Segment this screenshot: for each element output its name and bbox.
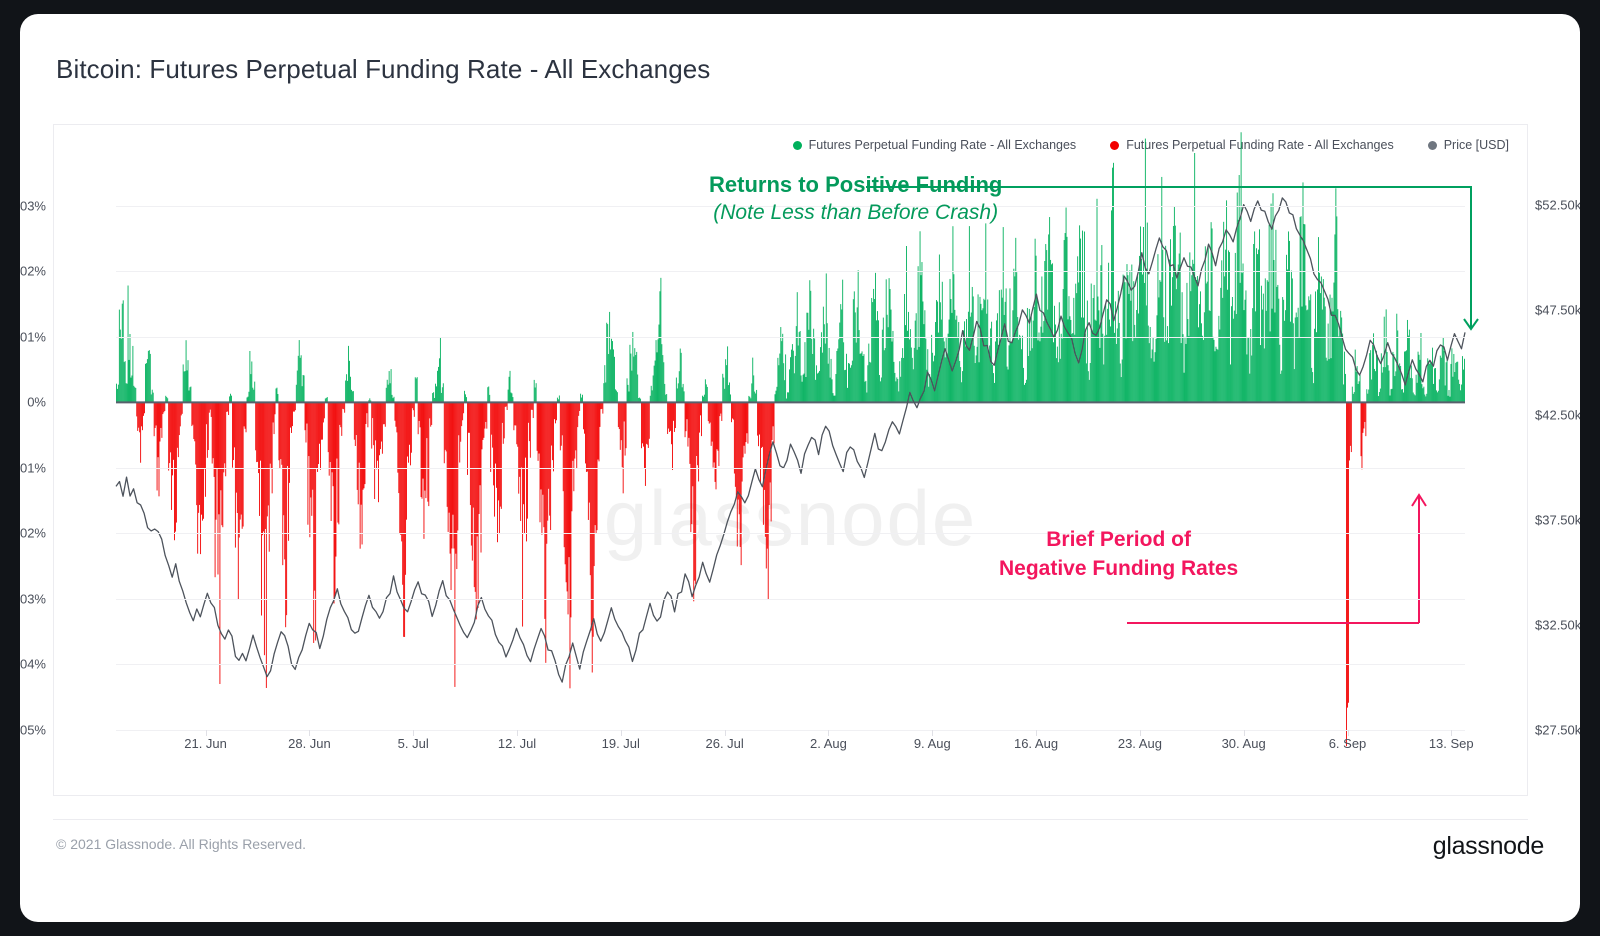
x-axis-tick-label: 26. Jul	[706, 736, 744, 751]
x-axis-tick-label: 16. Aug	[1014, 736, 1058, 751]
y2-axis-tick-label: $42.50k	[1535, 407, 1580, 422]
x-axis-tick-label: 23. Aug	[1118, 736, 1162, 751]
y-axis-tick-label: -0.04%	[20, 657, 46, 672]
x-axis-tick-label: 12. Jul	[498, 736, 536, 751]
x-axis-tick-label: 5. Jul	[398, 736, 429, 751]
y-axis-tick-label: 0.01%	[20, 329, 46, 344]
legend-label: Futures Perpetual Funding Rate - All Exc…	[809, 138, 1077, 152]
y-axis-tick-label: 0.03%	[20, 198, 46, 213]
x-axis-tick-label: 9. Aug	[914, 736, 951, 751]
gridline	[116, 468, 1465, 469]
copyright-text: © 2021 Glassnode. All Rights Reserved.	[56, 836, 306, 852]
gridline	[116, 533, 1465, 534]
y-axis-tick-label: 0.02%	[20, 264, 46, 279]
y2-axis-tick-label: $47.50k	[1535, 302, 1580, 317]
y2-axis-tick-label: $27.50k	[1535, 723, 1580, 738]
glassnode-logo: glassnode	[1433, 832, 1544, 861]
legend-item[interactable]: Futures Perpetual Funding Rate - All Exc…	[793, 138, 1077, 152]
x-axis-tick-label: 13. Sep	[1429, 736, 1474, 751]
chart-legend: Futures Perpetual Funding Rate - All Exc…	[54, 138, 1527, 152]
footer-divider	[53, 819, 1528, 820]
annotation-green-leader	[866, 187, 1471, 328]
y2-axis-tick-label: $37.50k	[1535, 512, 1580, 527]
x-axis-tick-label: 21. Jun	[184, 736, 227, 751]
legend-dot-icon	[793, 141, 802, 150]
gridline	[116, 664, 1465, 665]
x-axis-tick-label: 2. Aug	[810, 736, 847, 751]
plot-area: glassnode 0.03%0.02%0.01%0%-0.01%-0.02%-…	[116, 173, 1465, 730]
page-title: Bitcoin: Futures Perpetual Funding Rate …	[56, 54, 710, 85]
gridline	[116, 730, 1465, 731]
y-axis-tick-label: -0.03%	[20, 591, 46, 606]
legend-label: Futures Perpetual Funding Rate - All Exc…	[1126, 138, 1394, 152]
gridline	[116, 271, 1465, 272]
legend-item[interactable]: Futures Perpetual Funding Rate - All Exc…	[1110, 138, 1394, 152]
y-axis-tick-label: -0.02%	[20, 526, 46, 541]
y-axis-tick-label: 0%	[27, 395, 46, 410]
y2-axis-tick-label: $32.50k	[1535, 617, 1580, 632]
y2-axis-tick-label: $52.50k	[1535, 197, 1580, 212]
gridline	[116, 206, 1465, 207]
legend-dot-icon	[1428, 141, 1437, 150]
y-axis-tick-label: -0.01%	[20, 460, 46, 475]
y-axis-tick-label: -0.05%	[20, 723, 46, 738]
legend-dot-icon	[1110, 141, 1119, 150]
legend-label: Price [USD]	[1444, 138, 1509, 152]
plot-card: Futures Perpetual Funding Rate - All Exc…	[53, 124, 1528, 796]
x-axis-tick-label: 6. Sep	[1329, 736, 1367, 751]
x-axis-tick-label: 28. Jun	[288, 736, 331, 751]
gridline	[116, 599, 1465, 600]
x-axis-tick-label: 30. Aug	[1222, 736, 1266, 751]
x-axis-tick-label: 19. Jul	[602, 736, 640, 751]
legend-item[interactable]: Price [USD]	[1428, 138, 1509, 152]
annotation-layer	[116, 173, 1465, 730]
gridline	[116, 337, 1465, 338]
chart-card: Bitcoin: Futures Perpetual Funding Rate …	[20, 14, 1580, 922]
